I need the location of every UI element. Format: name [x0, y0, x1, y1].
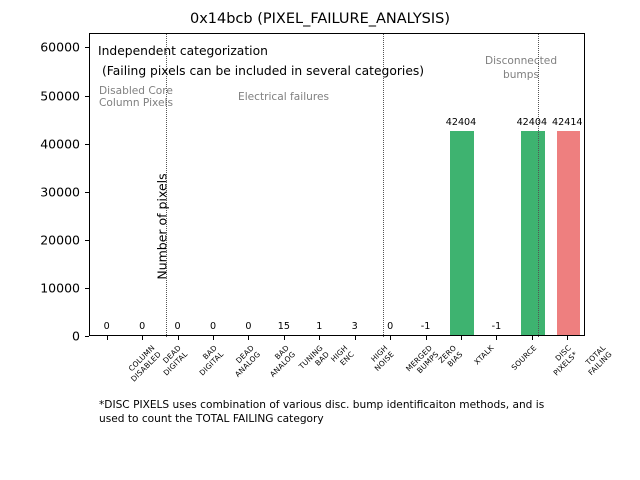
bar-value-label: 0 — [139, 321, 145, 332]
category-divider-line — [538, 34, 539, 337]
bar-value-label: 15 — [278, 321, 290, 332]
x-tick-label: DEADANALOG — [227, 344, 262, 379]
y-tick-label: 40000 — [10, 136, 80, 151]
annotation-independent-subtitle: (Failing pixels can be included in sever… — [102, 65, 424, 78]
y-tick-label: 30000 — [10, 184, 80, 199]
bar-value-label: 0 — [387, 321, 393, 332]
category-divider-line — [383, 34, 384, 337]
bar-value-label: -1 — [492, 321, 502, 332]
x-tick-label: DEADDIGITAL — [156, 344, 190, 378]
x-tick-mark — [142, 336, 143, 340]
y-tick-label: 10000 — [10, 280, 80, 295]
x-tick-label-line: XTALK — [473, 344, 496, 367]
category-divider-line — [166, 34, 167, 337]
y-tick-mark — [85, 288, 89, 289]
x-tick-label: ZEROBIAS — [437, 344, 464, 371]
x-tick-mark — [355, 336, 356, 340]
bar[interactable] — [450, 131, 473, 335]
y-tick-mark — [85, 144, 89, 145]
y-tick-mark — [85, 240, 89, 241]
footnote-text: *DISC PIXELS uses combination of various… — [99, 399, 624, 426]
bar-value-label: 42404 — [446, 117, 477, 128]
x-tick-mark — [426, 336, 427, 340]
bar-value-label: 0 — [104, 321, 110, 332]
annotation-independent-categorization: Independent categorization — [98, 45, 268, 58]
y-tick-mark — [85, 96, 89, 97]
x-tick-mark — [461, 336, 462, 340]
x-tick-label: SOURCE — [511, 344, 540, 373]
bar-value-label: 42414 — [552, 117, 583, 128]
y-tick-mark — [85, 192, 89, 193]
x-tick-label: TOTALFAILING — [581, 344, 614, 377]
x-tick-label: MERGEDBUMPS — [405, 344, 441, 380]
x-tick-mark — [319, 336, 320, 340]
y-tick-label: 0 — [10, 329, 80, 344]
x-tick-label: BADDIGITAL — [191, 344, 225, 378]
x-tick-mark — [213, 336, 214, 340]
bar-value-label: 0 — [210, 321, 216, 332]
bar-value-label: 0 — [175, 321, 181, 332]
figure-canvas: 0x14bcb (PIXEL_FAILURE_ANALYSIS) Number … — [0, 0, 640, 480]
y-axis-label: Number of pixels — [155, 147, 170, 307]
x-tick-label: HIGHNOISE — [367, 344, 396, 373]
x-tick-mark — [107, 336, 108, 340]
bar-value-label: 42404 — [517, 117, 548, 128]
y-tick-label: 60000 — [10, 40, 80, 55]
x-tick-label: XTALK — [473, 344, 496, 367]
x-tick-label: BADANALOG — [263, 344, 298, 379]
y-tick-label: 50000 — [10, 88, 80, 103]
bar-value-label: -1 — [421, 321, 431, 332]
page-title: 0x14bcb (PIXEL_FAILURE_ANALYSIS) — [0, 11, 640, 27]
x-tick-label-line: SOURCE — [511, 344, 540, 373]
y-tick-mark — [85, 336, 89, 337]
plot-area: Number of pixels Independent categorizat… — [89, 33, 585, 336]
bar-value-label: 3 — [352, 321, 358, 332]
annotation-disabled-core-column-pixels: Disabled Core Column Pixels — [99, 85, 173, 109]
x-tick-label: TUNINGBAD — [298, 344, 331, 377]
x-tick-mark — [178, 336, 179, 340]
bar-value-label: 0 — [245, 321, 251, 332]
annotation-disconnected-bumps: Disconnected bumps — [466, 54, 576, 82]
x-tick-label: HIGHENC — [330, 344, 356, 370]
y-tick-label: 20000 — [10, 232, 80, 247]
x-tick-mark — [284, 336, 285, 340]
bar-value-label: 1 — [316, 321, 322, 332]
x-tick-label: DISCPIXELS* — [546, 344, 580, 378]
x-tick-mark — [567, 336, 568, 340]
bar[interactable] — [557, 131, 580, 335]
y-tick-mark — [85, 47, 89, 48]
x-tick-mark — [532, 336, 533, 340]
x-tick-mark — [248, 336, 249, 340]
annotation-electrical-failures: Electrical failures — [238, 91, 329, 104]
x-tick-mark — [496, 336, 497, 340]
bar[interactable] — [521, 131, 544, 335]
x-tick-mark — [390, 336, 391, 340]
